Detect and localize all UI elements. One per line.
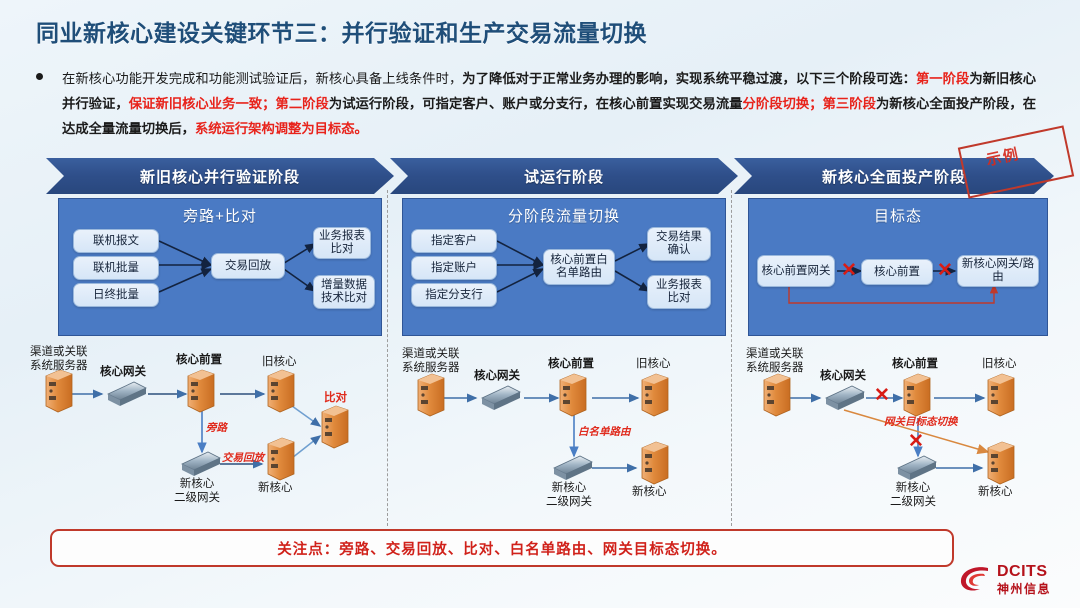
panel-2-center-0[interactable]: 核心前置白名单路由 [543, 249, 615, 285]
dcits-swirl-icon [958, 564, 992, 594]
server-icon [642, 374, 668, 416]
label-new-core-l2gw-1: 新核心二级网关 [174, 478, 220, 505]
label-new-core-1: 新核心 [258, 482, 293, 496]
stage-panel-3: 目标态 核心前置网关 核心前置 新核心网关/路由 ✕ ✕ [748, 198, 1048, 336]
gateway-icon [826, 386, 864, 410]
server-diagram-2: 渠道或关联系统服务器 核心网关 核心前置 旧核心 白名单路由 新核心二级网关 新… [392, 340, 730, 526]
footer-text: 关注点：旁路、交易回放、比对、白名单路由、网关目标态切换。 [277, 538, 727, 559]
label-core-gateway-1: 核心网关 [100, 366, 146, 380]
gateway-icon [482, 386, 520, 410]
panel-1-input-1[interactable]: 联机批量 [73, 256, 159, 280]
server-icon [268, 438, 294, 480]
label-core-front-3: 核心前置 [892, 358, 938, 372]
label-channel-server-3: 渠道或关联系统服务器 [746, 348, 804, 375]
label-new-core-l2gw-3: 新核心二级网关 [890, 482, 936, 509]
panel-2-input-2[interactable]: 指定分支行 [411, 283, 497, 307]
server-icon [764, 374, 790, 416]
panel-2-input-1[interactable]: 指定账户 [411, 256, 497, 280]
server-diagram-3: 渠道或关联系统服务器 核心网关 核心前置 旧核心 ✕ ✕ 网关目标态切换 新核心… [736, 340, 1066, 526]
label-core-gateway-2: 核心网关 [474, 370, 520, 384]
stage-panel-1: 旁路+比对 联机报文 联机批量 日终批量 交易回放 业务报表比对 增量数据技术比… [58, 198, 382, 336]
server-icon [904, 374, 930, 416]
logo-text-block: DCITS 神州信息 [997, 564, 1051, 595]
panel-2-output-0[interactable]: 交易结果确认 [647, 227, 711, 261]
stage-panel-2: 分阶段流量切换 指定客户 指定账户 指定分支行 核心前置白名单路由 交易结果确认… [402, 198, 726, 336]
server-icon [188, 370, 214, 412]
label-core-front-1: 核心前置 [176, 354, 222, 368]
panel-1-input-0[interactable]: 联机报文 [73, 229, 159, 253]
label-old-core-1: 旧核心 [262, 356, 297, 370]
label-new-core-2: 新核心 [632, 486, 667, 500]
panel-3-blocked-icon-1: ✕ [841, 261, 857, 280]
panel-1-output-1[interactable]: 增量数据技术比对 [313, 275, 375, 309]
panel-1-output-0[interactable]: 业务报表比对 [313, 227, 371, 259]
server-icon [988, 374, 1014, 416]
gateway-icon [182, 452, 220, 476]
bullet-icon [36, 73, 43, 80]
page-title: 同业新核心建设关键环节三：并行验证和生产交易流量切换 [36, 14, 647, 48]
label-core-gateway-3: 核心网关 [820, 370, 866, 384]
label-new-core-3: 新核心 [978, 486, 1013, 500]
panel-1-input-2[interactable]: 日终批量 [73, 283, 159, 307]
server-icon [560, 374, 586, 416]
panel-3-flow-0[interactable]: 核心前置网关 [757, 255, 835, 287]
panel-2-input-0[interactable]: 指定客户 [411, 229, 497, 253]
server-icon [642, 442, 668, 484]
server-icon [268, 370, 294, 412]
server-diagram-1: 渠道或关联系统服务器 核心网关 核心前置 旧核心 比对 旁路 交易回放 新核心二… [24, 340, 394, 526]
panel-1-center-0[interactable]: 交易回放 [211, 253, 285, 279]
server-icon [322, 406, 348, 448]
label-replay-1: 交易回放 [222, 452, 264, 466]
label-new-core-l2gw-2: 新核心二级网关 [546, 482, 592, 509]
company-logo: DCITS 神州信息 [958, 558, 1074, 600]
stage-header-1[interactable]: 新旧核心并行验证阶段 [46, 158, 394, 194]
label-core-front-2: 核心前置 [548, 358, 594, 372]
blocked-icon-gw-3: ✕ [874, 386, 890, 405]
label-gw-target-3: 网关目标态切换 [884, 416, 958, 430]
gateway-icon [108, 382, 146, 406]
server-icon [988, 442, 1014, 484]
column-divider-2 [731, 190, 732, 526]
gateway-icon [898, 456, 936, 480]
server-icon [418, 374, 444, 416]
label-compare-1: 比对 [324, 392, 347, 406]
panel-2-output-1[interactable]: 业务报表比对 [647, 275, 711, 309]
label-bypass-1: 旁路 [206, 422, 227, 436]
blocked-icon-front-3: ✕ [908, 432, 924, 451]
intro-paragraph: 在新核心功能开发完成和功能测试验证后，新核心具备上线条件时，为了降低对于正常业务… [62, 66, 1036, 141]
intro-paragraph-block: 在新核心功能开发完成和功能测试验证后，新核心具备上线条件时，为了降低对于正常业务… [36, 66, 1036, 141]
logo-en: DCITS [997, 564, 1051, 580]
gateway-icon [554, 456, 592, 480]
footer-highlight-box: 关注点：旁路、交易回放、比对、白名单路由、网关目标态切换。 [50, 529, 954, 567]
panel-3-blocked-icon-2: ✕ [937, 261, 953, 280]
panel-3-flow-1[interactable]: 核心前置 [861, 259, 933, 285]
label-old-core-2: 旧核心 [636, 358, 671, 372]
label-channel-server-1: 渠道或关联系统服务器 [30, 346, 88, 373]
slide-root: 同业新核心建设关键环节三：并行验证和生产交易流量切换 在新核心功能开发完成和功能… [0, 0, 1080, 608]
stage-header-2[interactable]: 试运行阶段 [390, 158, 738, 194]
label-whitelist-2: 白名单路由 [578, 426, 631, 440]
label-old-core-3: 旧核心 [982, 358, 1017, 372]
label-channel-server-2: 渠道或关联系统服务器 [402, 348, 460, 375]
logo-cn: 神州信息 [997, 583, 1051, 595]
panel-3-flow-2[interactable]: 新核心网关/路由 [957, 255, 1039, 287]
server-icon [46, 370, 72, 412]
